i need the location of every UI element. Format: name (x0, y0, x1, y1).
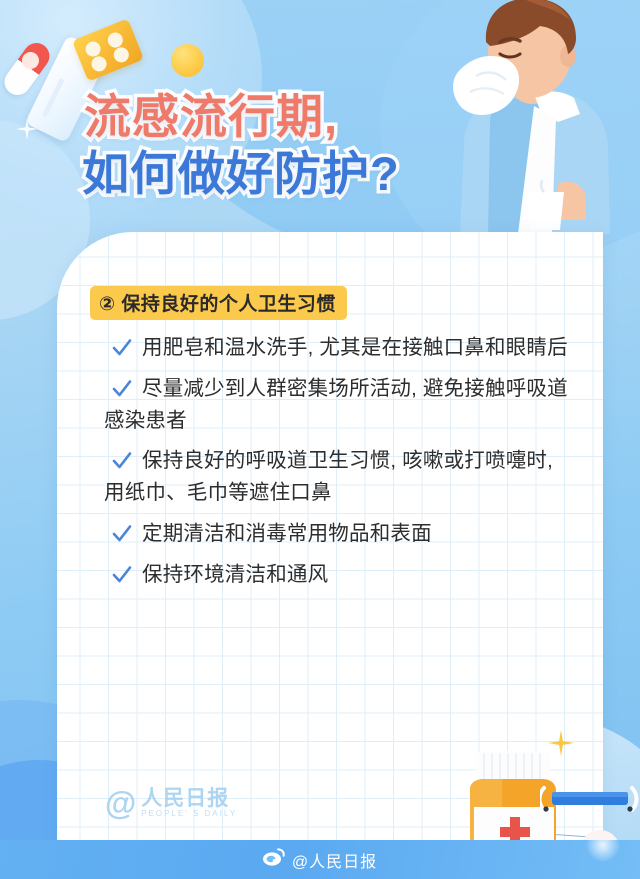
bar-glow-decoration (586, 840, 620, 862)
list-item-text: 保持良好的呼吸道卫生习惯, 咳嗽或打喷嚏时, 用纸巾、毛巾等遮住口鼻 (104, 449, 553, 504)
check-icon (112, 377, 132, 397)
list-item: 保持环境清洁和通风 (104, 559, 578, 591)
weibo-handle[interactable]: @人民日报 (292, 848, 377, 872)
check-icon (112, 336, 132, 356)
bottom-credit-bar: @人民日报 (0, 840, 640, 879)
list-item: 保持良好的呼吸道卫生习惯, 咳嗽或打喷嚏时, 用纸巾、毛巾等遮住口鼻 (104, 445, 578, 509)
poster-title: 流感流行期, 如何做好防护? (84, 88, 400, 203)
title-line-2: 如何做好防护? (82, 145, 400, 202)
list-item-text: 尽量减少到人群密集场所活动, 避免接触呼吸道感染患者 (104, 377, 568, 432)
list-item: 用肥皂和温水洗手, 尤其是在接触口鼻和眼睛后 (104, 332, 578, 364)
face-mask-icon (540, 782, 640, 816)
hygiene-tips-list: 用肥皂和温水洗手, 尤其是在接触口鼻和眼睛后 尽量减少到人群密集场所活动, 避免… (104, 332, 578, 599)
list-item-text: 保持环境清洁和通风 (142, 563, 328, 586)
weibo-icon[interactable] (263, 848, 285, 871)
check-icon (112, 449, 132, 469)
section-heading: ② 保持良好的个人卫生习惯 (90, 286, 347, 320)
pill-dot (89, 54, 109, 74)
peoples-daily-watermark: @ 人民日报 PEOPLE' S DAILY (105, 787, 237, 819)
at-sign-icon: @ (105, 787, 136, 819)
watermark-name-en: PEOPLE' S DAILY (141, 810, 237, 819)
list-item: 尽量减少到人群密集场所活动, 避免接触呼吸道感染患者 (104, 373, 578, 437)
check-icon (112, 522, 132, 542)
watermark-name-cn: 人民日报 (141, 788, 237, 810)
pill-dot (112, 45, 132, 65)
person-blowing-nose-illustration (430, 0, 640, 234)
title-line-1: 流感流行期, (84, 88, 400, 145)
list-item: 定期清洁和消毒常用物品和表面 (104, 518, 578, 550)
list-item-text: 定期清洁和消毒常用物品和表面 (142, 522, 432, 545)
list-item-text: 用肥皂和温水洗手, 尤其是在接触口鼻和眼睛后 (142, 336, 568, 359)
poster-root: 流感流行期, 如何做好防护? ② 保持良好的个人卫生习惯 用肥皂和温水洗手, 尤… (0, 0, 640, 879)
sun-circle-icon (171, 44, 204, 77)
check-icon (112, 563, 132, 583)
